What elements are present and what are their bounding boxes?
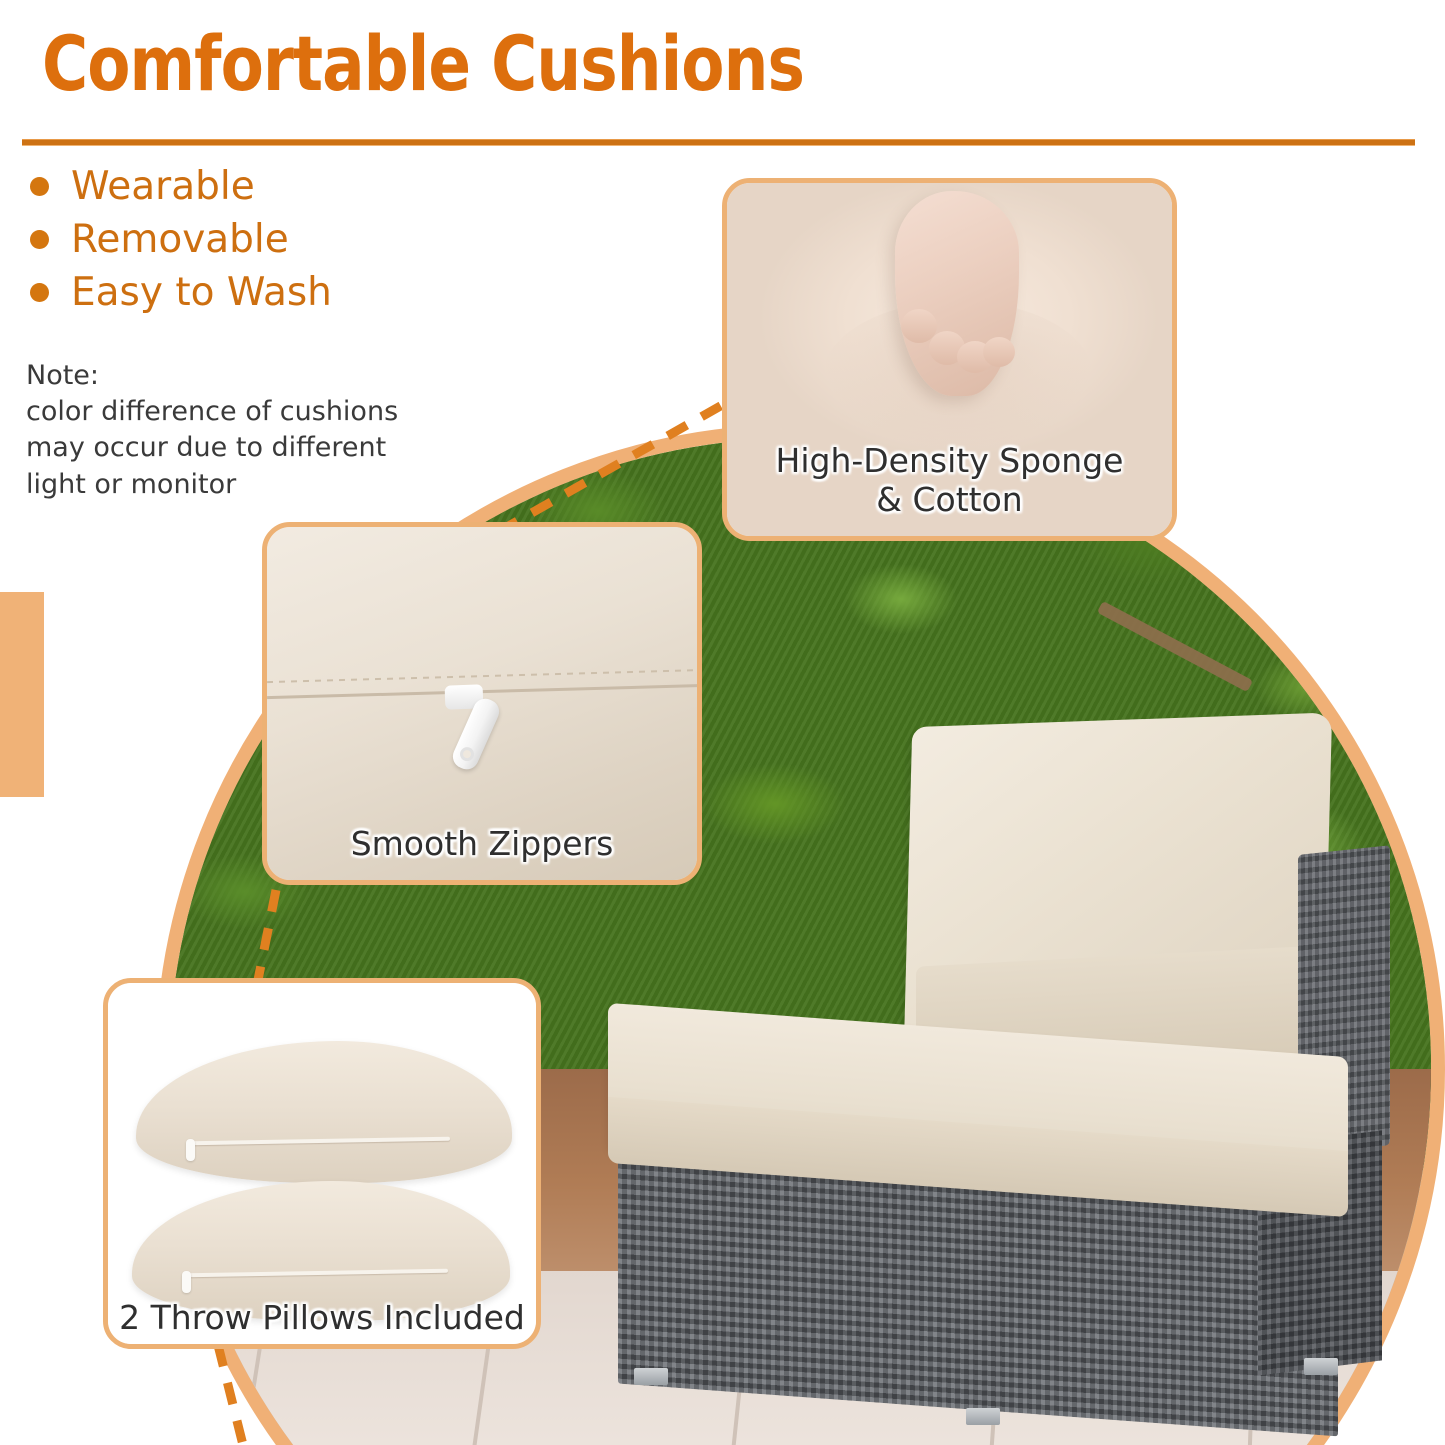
caption-line-1: 2 Throw Pillows Included bbox=[108, 1298, 536, 1338]
pillow-top bbox=[136, 1041, 512, 1183]
list-item: Wearable bbox=[30, 160, 490, 213]
sofa-foot-right bbox=[966, 1408, 1000, 1425]
fist-icon bbox=[895, 191, 1019, 396]
sofa-foot-left bbox=[634, 1368, 668, 1385]
note-line-1: color difference of cushions bbox=[26, 394, 456, 430]
knuckle bbox=[983, 337, 1015, 367]
sofa-foot-back bbox=[1304, 1358, 1338, 1375]
note-heading: Note: bbox=[26, 358, 456, 394]
caption-line-2: & Cotton bbox=[727, 480, 1172, 520]
pillow-zipper-pull-top bbox=[186, 1139, 195, 1161]
bullet-dot-icon bbox=[30, 283, 49, 302]
infographic-page: Comfortable Cushions Wearable Removable … bbox=[0, 0, 1445, 1445]
bullet-label: Removable bbox=[71, 220, 289, 259]
rattan-sofa-product bbox=[598, 708, 1388, 1445]
left-accent-tab bbox=[0, 592, 44, 797]
pillow-zipper-pull-bottom bbox=[182, 1271, 191, 1293]
callout-throw-pillows: 2 Throw Pillows Included bbox=[103, 978, 541, 1349]
zipper-stitching bbox=[267, 669, 702, 683]
title-divider bbox=[22, 139, 1415, 146]
note-line-3: light or monitor bbox=[26, 467, 456, 503]
feature-bullet-list: Wearable Removable Easy to Wash bbox=[30, 160, 490, 319]
bullet-label: Easy to Wash bbox=[71, 273, 332, 312]
zipper-seam bbox=[267, 684, 702, 699]
callout-caption: 2 Throw Pillows Included bbox=[108, 1298, 536, 1338]
page-title: Comfortable Cushions bbox=[42, 26, 804, 102]
bullet-dot-icon bbox=[30, 177, 49, 196]
list-item: Easy to Wash bbox=[30, 266, 490, 319]
list-item: Removable bbox=[30, 213, 490, 266]
callout-caption: High-Density Sponge & Cotton bbox=[727, 441, 1172, 520]
pillows-photo bbox=[108, 983, 536, 1344]
bullet-label: Wearable bbox=[71, 167, 255, 206]
callout-smooth-zippers: Smooth Zippers bbox=[262, 522, 702, 885]
bullet-dot-icon bbox=[30, 230, 49, 249]
callout-high-density-sponge: High-Density Sponge & Cotton bbox=[722, 178, 1177, 541]
callout-caption: Smooth Zippers bbox=[267, 824, 697, 864]
note-block: Note: color difference of cushions may o… bbox=[26, 358, 456, 503]
caption-line-1: Smooth Zippers bbox=[267, 824, 697, 864]
caption-line-1: High-Density Sponge bbox=[727, 441, 1172, 481]
note-line-2: may occur due to different bbox=[26, 430, 456, 466]
